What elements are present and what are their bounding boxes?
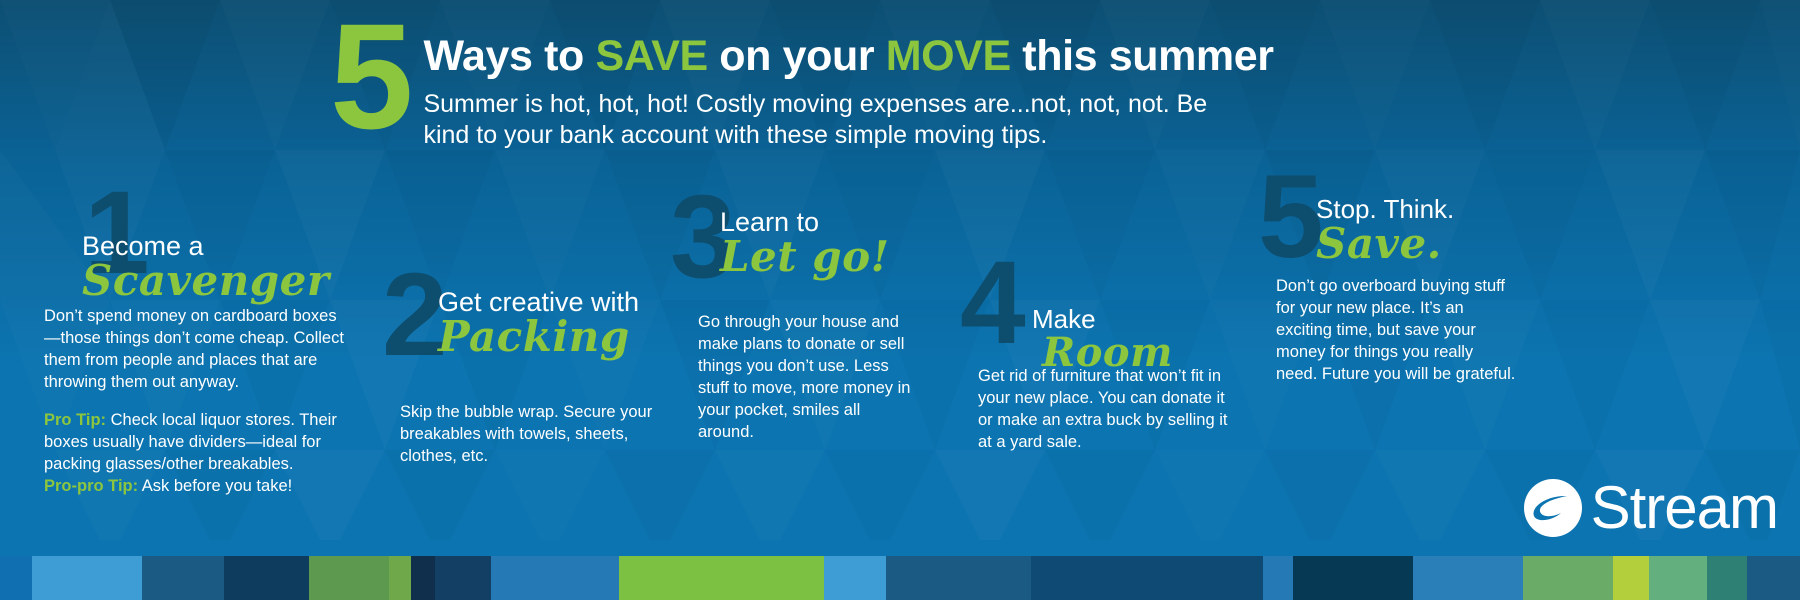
tip-card-4: 4 MakeRoom Get rid of furniture that won… xyxy=(960,256,1230,454)
tip-2-body: Skip the bubble wrap. Secure your breaka… xyxy=(382,402,682,468)
bottom-bar-swatch xyxy=(435,556,491,600)
tip-3-title-line2: Let go! xyxy=(720,236,890,278)
tip-1-titles: Become a Scavenger xyxy=(82,232,330,302)
title-part-0: Ways to xyxy=(423,32,595,80)
tip-4-number: 4 xyxy=(960,256,1020,350)
bottom-bar-swatch xyxy=(142,556,224,600)
tip-2-paragraph-1: Skip the bubble wrap. Secure your breaka… xyxy=(400,402,682,468)
tip-3-titles: Learn to Let go! xyxy=(720,208,890,278)
tip-card-2: 2 Get creative with Packing Skip the bub… xyxy=(382,268,682,468)
tip-1-body: Don’t spend money on cardboard boxes—tho… xyxy=(44,306,344,498)
tip-4-body: Get rid of furniture that won’t fit in y… xyxy=(960,366,1230,454)
tip-1-head: 1 Become a Scavenger xyxy=(44,186,344,296)
bottom-bar-swatch xyxy=(1707,556,1747,600)
tip-5-title-line2: Save. xyxy=(1316,223,1454,265)
title-part-2: on your xyxy=(708,32,886,80)
tip-4-paragraph-1: Get rid of furniture that won’t fit in y… xyxy=(978,366,1230,454)
header-text-block: Ways to SAVE on your MOVE this summer Su… xyxy=(423,18,1273,150)
bottom-bar-swatch xyxy=(886,556,1031,600)
tip-3-body: Go through your house and make plans to … xyxy=(662,312,912,444)
bottom-bar-swatch xyxy=(1747,556,1800,600)
infographic-poster: 5 Ways to SAVE on your MOVE this summer … xyxy=(0,0,1800,600)
tip-2-title-line2: Packing xyxy=(438,316,639,358)
title-part-save: SAVE xyxy=(595,32,707,80)
tip-1-protip-label: Pro Tip: xyxy=(44,411,106,429)
tip-1-title-line2: Scavenger xyxy=(82,260,330,302)
bottom-bar-swatch xyxy=(1649,556,1707,600)
tip-1-paragraph-1: Don’t spend money on cardboard boxes—tho… xyxy=(44,306,344,394)
bottom-bar-swatch xyxy=(389,556,411,600)
tip-4-titles: MakeRoom xyxy=(1032,306,1230,373)
bottom-bar-swatch xyxy=(1293,556,1413,600)
page-subtitle: Summer is hot, hot, hot! Costly moving e… xyxy=(423,89,1243,150)
bottom-bar-swatch xyxy=(1523,556,1613,600)
bottom-bar-swatch xyxy=(491,556,619,600)
bottom-bar-swatch xyxy=(824,556,886,600)
tip-1-proprotip-text: Ask before you take! xyxy=(138,477,292,495)
tip-5-number: 5 xyxy=(1258,170,1318,264)
poster-header: 5 Ways to SAVE on your MOVE this summer … xyxy=(330,18,1510,150)
bottom-bar-swatch xyxy=(309,556,389,600)
header-big-number: 5 xyxy=(330,18,407,135)
bottom-band-separator xyxy=(0,540,1800,556)
tip-3-head: 3 Learn to Let go! xyxy=(662,190,912,290)
tip-5-titles: Stop. Think. Save. xyxy=(1316,196,1454,265)
stream-logo-text: Stream xyxy=(1591,481,1778,535)
tip-2-number: 2 xyxy=(382,268,442,362)
bottom-bar-swatch xyxy=(32,556,142,600)
tip-card-5: 5 Stop. Think. Save. Don’t go overboard … xyxy=(1258,170,1518,386)
tip-5-body: Don’t go overboard buying stuff for your… xyxy=(1258,276,1518,386)
bottom-bar-swatch xyxy=(1031,556,1263,600)
bottom-bar-swatch xyxy=(224,556,309,600)
tip-card-3: 3 Learn to Let go! Go through your house… xyxy=(662,190,912,444)
title-part-move: MOVE xyxy=(886,32,1011,80)
tip-4-head: 4 MakeRoom xyxy=(960,256,1230,342)
tip-card-1: 1 Become a Scavenger Don’t spend money o… xyxy=(44,186,344,498)
bottom-bar-swatch xyxy=(0,556,32,600)
tip-1-proprotip-label: Pro-pro Tip: xyxy=(44,477,138,495)
tip-5-head: 5 Stop. Think. Save. xyxy=(1258,170,1518,266)
tip-2-titles: Get creative with Packing xyxy=(438,288,639,358)
tip-4-title-line2: Room xyxy=(1042,333,1173,373)
title-part-4: this summer xyxy=(1011,32,1274,80)
tip-3-paragraph-1: Go through your house and make plans to … xyxy=(698,312,912,444)
bottom-color-bar xyxy=(0,556,1800,600)
stream-swoosh-icon xyxy=(1523,478,1583,538)
stream-logo: Stream xyxy=(1523,478,1778,538)
bottom-bar-swatch xyxy=(1263,556,1293,600)
tip-2-head: 2 Get creative with Packing xyxy=(382,268,682,378)
bottom-bar-swatch xyxy=(619,556,824,600)
bottom-bar-swatch xyxy=(411,556,435,600)
tip-1-protip: Pro Tip: Check local liquor stores. Thei… xyxy=(44,410,344,498)
bottom-bar-swatch xyxy=(1413,556,1523,600)
bottom-bar-swatch xyxy=(1613,556,1649,600)
tip-5-paragraph-1: Don’t go overboard buying stuff for your… xyxy=(1276,276,1518,386)
page-title: Ways to SAVE on your MOVE this summer xyxy=(423,34,1273,79)
